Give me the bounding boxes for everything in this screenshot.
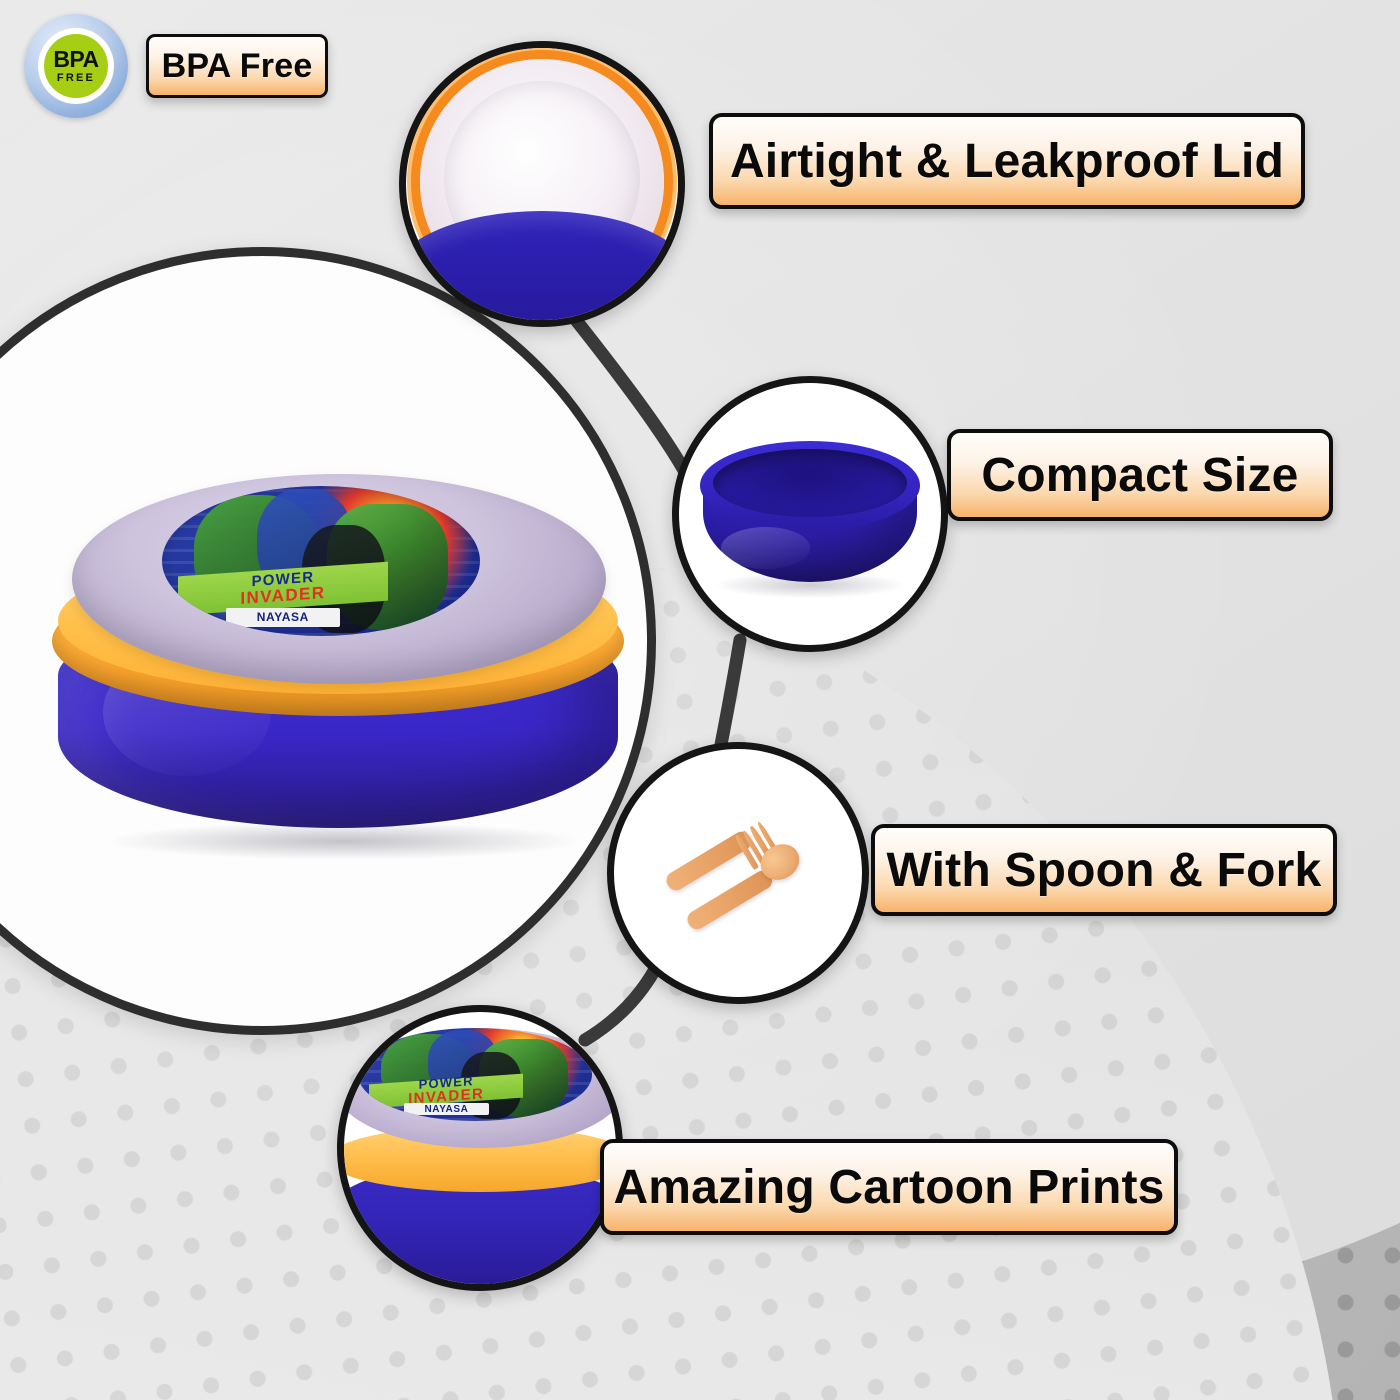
label-airtight-leakproof-lid: Airtight & Leakproof Lid: [709, 113, 1305, 209]
callout-amazing-cartoon-prints: POWER INVADER NAYASA: [337, 1005, 623, 1291]
bpa-free-icon: BPA FREE: [24, 14, 128, 118]
bpa-icon-white-ring: BPA FREE: [38, 28, 114, 104]
label-compact-size: Compact Size: [947, 429, 1333, 521]
product-cartoon-sticker: POWER INVADER NAYASA: [162, 486, 480, 636]
bpa-icon-text-primary: BPA: [53, 48, 98, 71]
label-with-spoon-and-fork: With Spoon & Fork: [871, 824, 1337, 916]
bowl-inner-cavity: [713, 449, 907, 517]
sticker-brand-logo: NAYASA: [226, 608, 340, 628]
main-product-image: POWER INVADER NAYASA: [44, 470, 634, 850]
product-infographic: POWER INVADER NAYASA: [0, 0, 1400, 1400]
print-box-cartoon-sticker: POWER INVADER NAYASA: [358, 1028, 592, 1120]
label-amazing-cartoon-prints: Amazing Cartoon Prints: [600, 1139, 1178, 1235]
callout-with-spoon-and-fork: [607, 742, 869, 1004]
sticker-brand-logo: NAYASA: [404, 1103, 488, 1115]
bpa-icon-green-disc: BPA FREE: [44, 34, 108, 98]
lid-blue-base-edge: [399, 211, 685, 327]
callout-compact-size: [672, 376, 948, 652]
bowl-gloss-highlight: [721, 527, 810, 569]
sticker-title-line2: INVADER: [240, 584, 325, 607]
bpa-icon-text-secondary: FREE: [57, 73, 95, 84]
label-bpa-free: BPA Free: [146, 34, 328, 98]
cutlery-group: [656, 799, 805, 948]
callout-airtight-leakproof-lid: [399, 41, 685, 327]
